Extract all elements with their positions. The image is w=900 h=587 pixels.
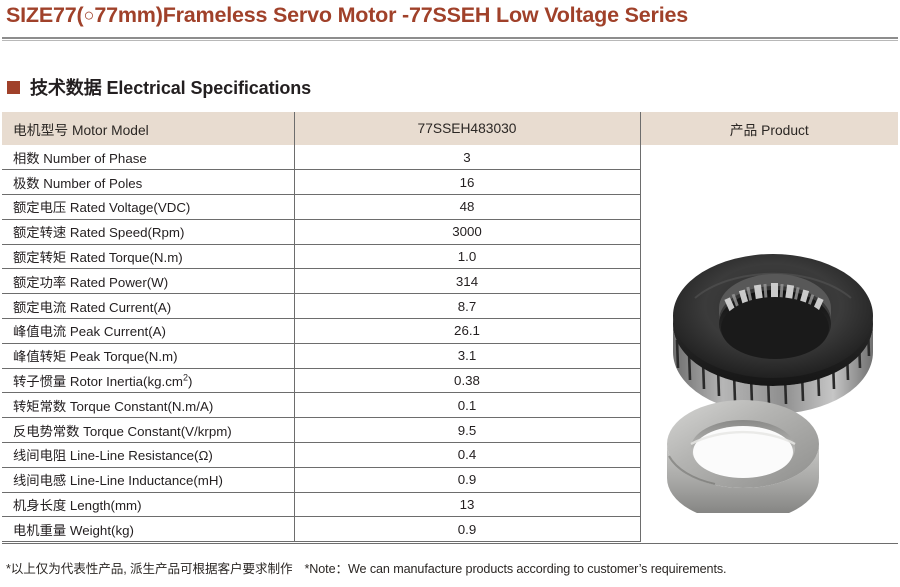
spec-value-cell: 0.38 bbox=[294, 368, 640, 393]
spec-label-cell: 额定电压 Rated Voltage(VDC) bbox=[2, 195, 294, 220]
spec-label-cell: 额定转矩 Rated Torque(N.m) bbox=[2, 244, 294, 269]
page-title-paren-close: ) bbox=[156, 3, 163, 27]
column-header-motor-model: 电机型号 Motor Model bbox=[2, 112, 294, 145]
electrical-specifications-table: 电机型号 Motor Model 77SSEH483030 产品 Product… bbox=[2, 112, 898, 542]
spec-value-cell: 1.0 bbox=[294, 244, 640, 269]
spec-value-cell: 13 bbox=[294, 492, 640, 517]
page-title-size: 77mm bbox=[94, 3, 155, 27]
spec-label-cell: 峰值电流 Peak Current(A) bbox=[2, 319, 294, 344]
column-header-product: 产品 Product bbox=[640, 112, 898, 145]
footnote: *以上仅为代表性产品, 派生产品可根据客户要求制作*Note：We can ma… bbox=[6, 558, 726, 577]
page-title-prefix: SIZE77 bbox=[6, 3, 77, 27]
spec-value-cell: 8.7 bbox=[294, 294, 640, 319]
spec-value-cell: 48 bbox=[294, 195, 640, 220]
spec-label-cell: 线间电感 Line-Line Inductance(mH) bbox=[2, 467, 294, 492]
spec-label-cell: 电机重量 Weight(kg) bbox=[2, 517, 294, 542]
footnote-en: *Note：We can manufacture products accord… bbox=[304, 562, 726, 576]
spec-label-cell: 极数 Number of Poles bbox=[2, 170, 294, 195]
spec-label-cell: 线间电阻 Line-Line Resistance(Ω) bbox=[2, 443, 294, 468]
spec-value-cell: 0.9 bbox=[294, 467, 640, 492]
footnote-cn: *以上仅为代表性产品, 派生产品可根据客户要求制作 bbox=[6, 562, 292, 576]
spec-label-cell: 额定转速 Rated Speed(Rpm) bbox=[2, 219, 294, 244]
spec-value-cell: 314 bbox=[294, 269, 640, 294]
table-header-row: 电机型号 Motor Model 77SSEH483030 产品 Product bbox=[2, 112, 898, 145]
product-image-cell bbox=[640, 145, 898, 542]
section-heading: 技术数据 Electrical Specifications bbox=[7, 74, 311, 100]
section-heading-label: 技术数据 Electrical Specifications bbox=[30, 74, 311, 100]
spec-value-cell: 3 bbox=[294, 145, 640, 170]
spec-value-cell: 9.5 bbox=[294, 418, 640, 443]
table-row: 相数 Number of Phase3 bbox=[2, 145, 898, 170]
spec-label-cell: 转矩常数 Torque Constant(N.m/A) bbox=[2, 393, 294, 418]
spec-label-cell: 反电势常数 Torque Constant(V/krpm) bbox=[2, 418, 294, 443]
spec-label-cell: 额定电流 Rated Current(A) bbox=[2, 294, 294, 319]
table-bottom-divider bbox=[2, 543, 898, 544]
spec-value-cell: 26.1 bbox=[294, 319, 640, 344]
spec-value-cell: 0.4 bbox=[294, 443, 640, 468]
spec-label-cell: 机身长度 Length(mm) bbox=[2, 492, 294, 517]
square-bullet-icon bbox=[7, 81, 20, 94]
spec-label-cell: 转子惯量 Rotor Inertia(kg.cm2) bbox=[2, 368, 294, 393]
diameter-circle-icon: ○ bbox=[83, 5, 94, 25]
page-title: SIZE77(○77mm)Frameless Servo Motor -77SS… bbox=[6, 3, 688, 28]
spec-value-cell: 3.1 bbox=[294, 343, 640, 368]
title-divider bbox=[2, 37, 898, 41]
column-header-model-number: 77SSEH483030 bbox=[294, 112, 640, 145]
spec-label-cell: 额定功率 Rated Power(W) bbox=[2, 269, 294, 294]
spec-label-cell: 相数 Number of Phase bbox=[2, 145, 294, 170]
spec-value-cell: 3000 bbox=[294, 219, 640, 244]
page-title-rest: Frameless Servo Motor -77SSEH Low Voltag… bbox=[163, 3, 688, 27]
spec-label-cell: 峰值转矩 Peak Torque(N.m) bbox=[2, 343, 294, 368]
spec-value-cell: 0.1 bbox=[294, 393, 640, 418]
spec-value-cell: 0.9 bbox=[294, 517, 640, 542]
spec-value-cell: 16 bbox=[294, 170, 640, 195]
